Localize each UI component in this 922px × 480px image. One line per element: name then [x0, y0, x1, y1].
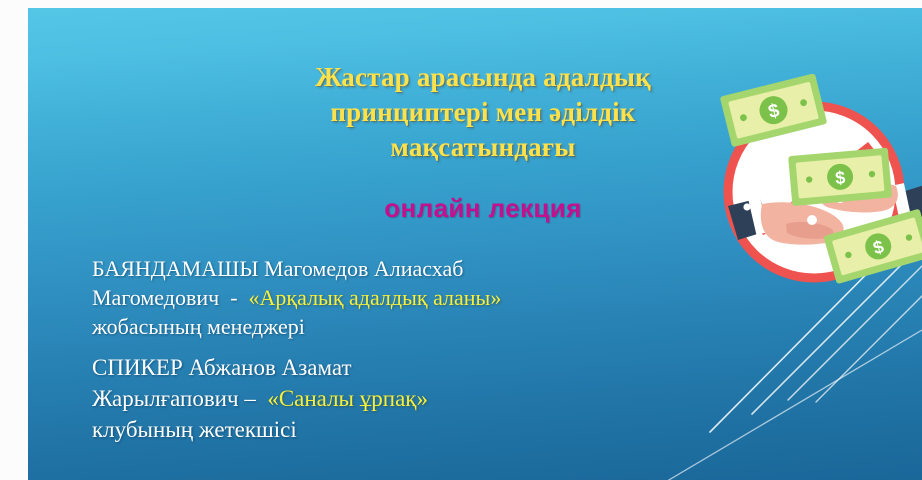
title-line-2: принциптері мен әділдік [178, 95, 788, 130]
presenter-position-line: жобасының менеджері [92, 312, 612, 341]
screenshot-stage: $ $ $ [0, 0, 922, 480]
presentation-slide: $ $ $ [28, 8, 922, 480]
banknote-middle: $ [788, 148, 892, 207]
speaker-name-line: СПИКЕР Абжанов Азамат [92, 352, 612, 383]
speaker-patronymic: Жарылғапович [92, 386, 239, 411]
title-line-1: Жастар арасында адалдық [178, 60, 788, 95]
slide-title: Жастар арасында адалдық принциптері мен … [178, 60, 788, 165]
presenter-name-line: БАЯНДАМАШЫ Магомедов Алиасхаб [92, 254, 612, 283]
speaker-block-speaker: СПИКЕР Абжанов Азамат Жарылғапович – «Са… [92, 352, 612, 445]
speaker-organization: «Саналы ұрпақ» [267, 386, 428, 411]
speaker-position-line: клубының жетекшісі [92, 414, 612, 445]
speaker-org-line: Жарылғапович – «Саналы ұрпақ» [92, 383, 612, 414]
svg-text:$: $ [834, 167, 846, 188]
presenter-dash: - [230, 285, 237, 310]
presenter-org-line: Магомедович - «Арқалық адалдық аланы» [92, 283, 612, 312]
speaker-block-presenter: БАЯНДАМАШЫ Магомедов Алиасхаб Магомедови… [92, 254, 612, 341]
presenter-organization: «Арқалық адалдық аланы» [249, 285, 502, 310]
speaker-dash: – [244, 386, 256, 411]
slide-subtitle: онлайн лекция [178, 192, 788, 224]
presenter-patronymic: Магомедович [92, 285, 219, 310]
title-line-3: мақсатындағы [178, 130, 788, 165]
